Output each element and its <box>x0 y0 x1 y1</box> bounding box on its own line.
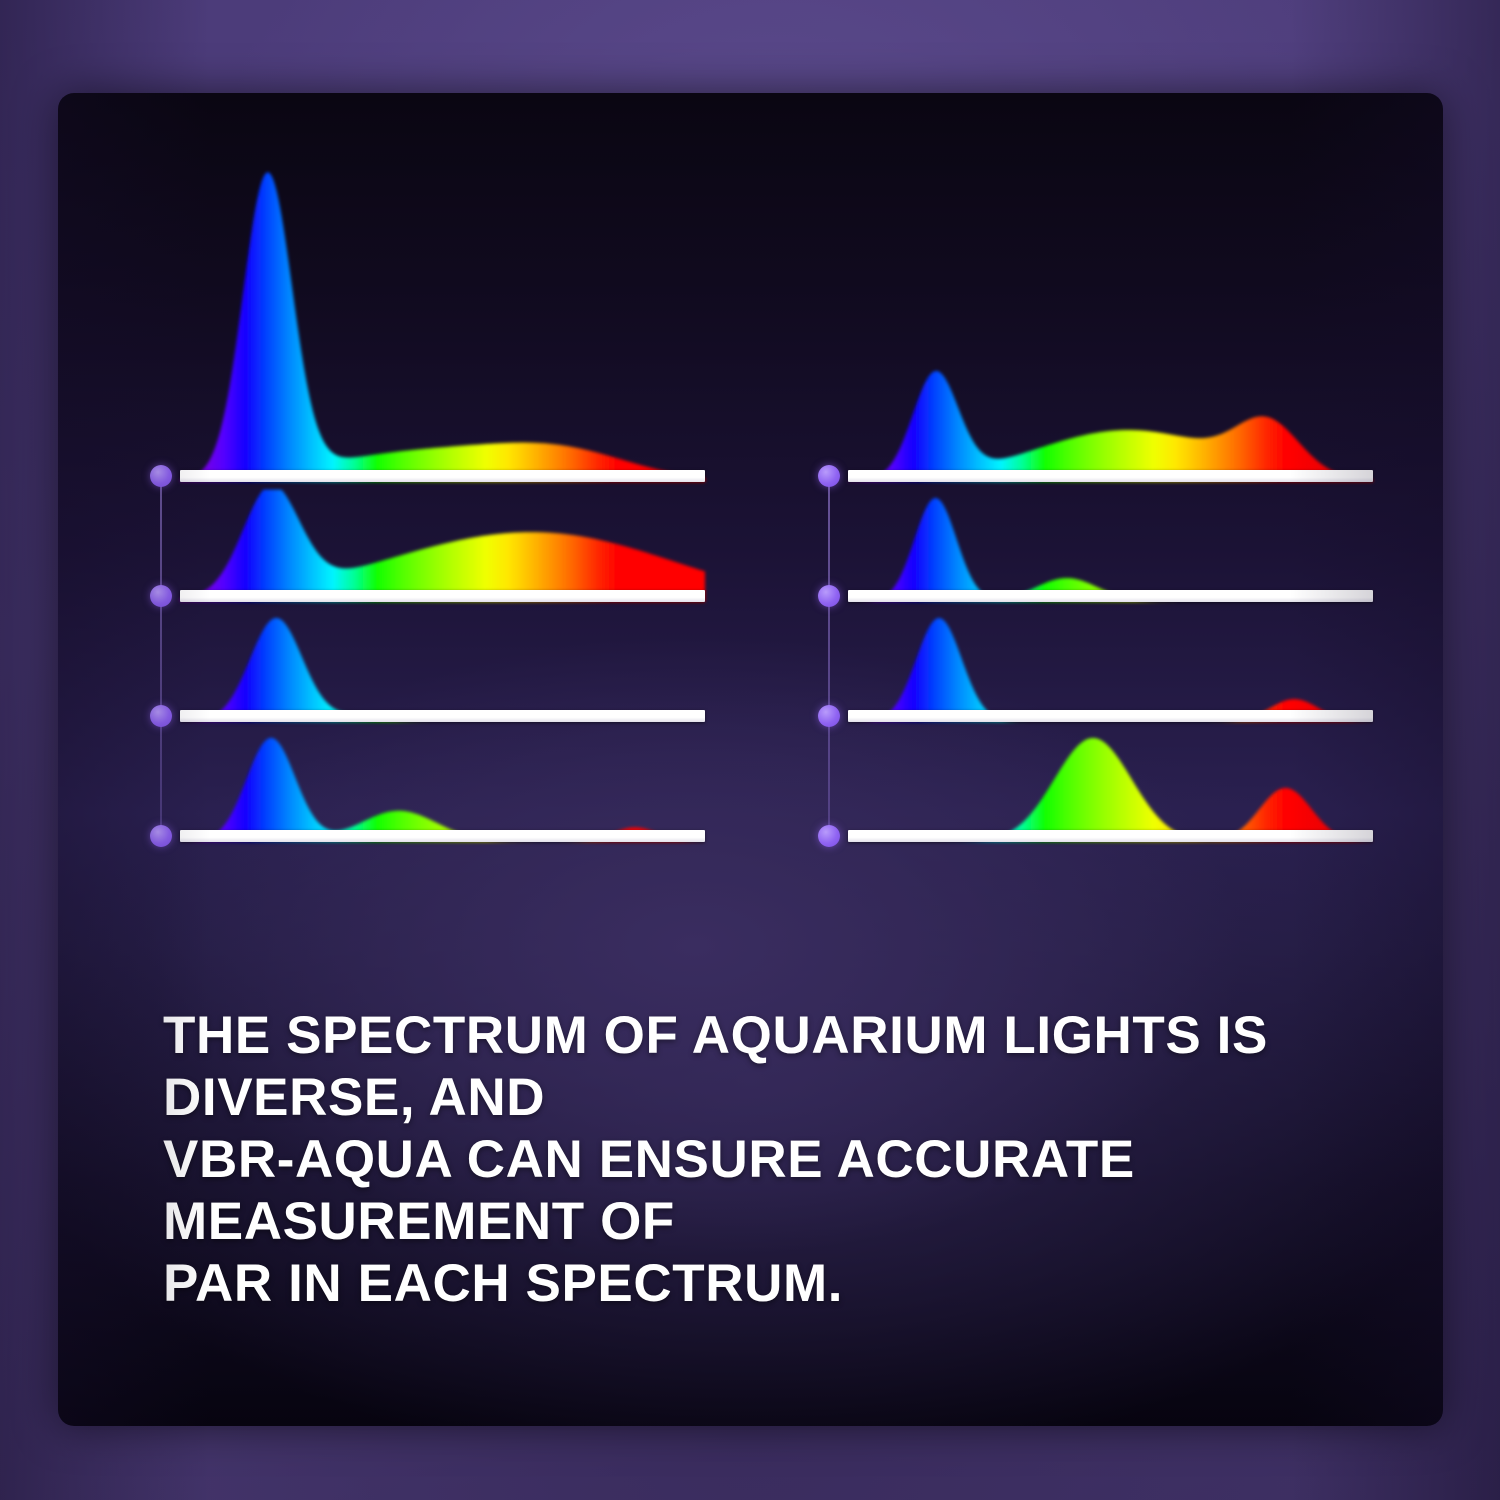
poster-root: THE SPECTRUM OF AQUARIUM LIGHTS IS DIVER… <box>0 0 1500 1500</box>
spectrum-baseline-bar[interactable] <box>848 470 1373 482</box>
spectrum-marker-dot-icon[interactable] <box>818 825 840 847</box>
spectrum-area <box>180 618 705 722</box>
spectrum-marker-dot-icon[interactable] <box>818 585 840 607</box>
spectrum-marker-dot-icon[interactable] <box>150 585 172 607</box>
spectrum-baseline-bar[interactable] <box>848 710 1373 722</box>
spectrum-baseline-bar[interactable] <box>180 590 705 602</box>
caption-line-2: VBR-AQUA CAN ENSURE ACCURATE MEASUREMENT… <box>163 1129 1443 1253</box>
spectrum-marker-dot-icon[interactable] <box>150 705 172 727</box>
spectrum-row[interactable] <box>150 776 705 896</box>
spectrum-marker-dot-icon[interactable] <box>818 705 840 727</box>
spectrum-baseline-bar[interactable] <box>180 710 705 722</box>
spectrum-area <box>180 738 705 842</box>
spectrum-baseline-bar[interactable] <box>180 470 705 482</box>
spectrum-curve <box>180 618 705 722</box>
spectrum-baseline-bar[interactable] <box>848 590 1373 602</box>
spectrum-curve <box>180 182 705 482</box>
spectrum-baseline-bar[interactable] <box>180 830 705 842</box>
spectrum-marker-dot-icon[interactable] <box>150 465 172 487</box>
spectrum-area <box>848 738 1373 842</box>
spectrum-area <box>180 490 705 602</box>
spectrum-marker-dot-icon[interactable] <box>818 465 840 487</box>
spectrum-curve <box>848 618 1373 722</box>
spectrum-area <box>180 172 705 482</box>
spectrum-curve <box>180 738 705 842</box>
spectrum-area <box>848 371 1373 482</box>
caption-line-3: PAR IN EACH SPECTRUM. <box>163 1253 1443 1315</box>
spectrum-area <box>848 618 1373 722</box>
spectrum-curve <box>848 738 1373 842</box>
caption-line-1: THE SPECTRUM OF AQUARIUM LIGHTS IS DIVER… <box>163 1005 1443 1129</box>
spectrum-baseline-bar[interactable] <box>848 830 1373 842</box>
spectrum-curve <box>180 498 705 602</box>
spectrum-curve <box>848 378 1373 482</box>
spectrum-curve <box>848 498 1373 602</box>
spectrum-panel: THE SPECTRUM OF AQUARIUM LIGHTS IS DIVER… <box>58 93 1443 1426</box>
spectrum-row[interactable] <box>818 776 1373 896</box>
spectrum-area <box>848 498 1373 602</box>
spectrum-marker-dot-icon[interactable] <box>150 825 172 847</box>
caption-block: THE SPECTRUM OF AQUARIUM LIGHTS IS DIVER… <box>163 1005 1443 1315</box>
